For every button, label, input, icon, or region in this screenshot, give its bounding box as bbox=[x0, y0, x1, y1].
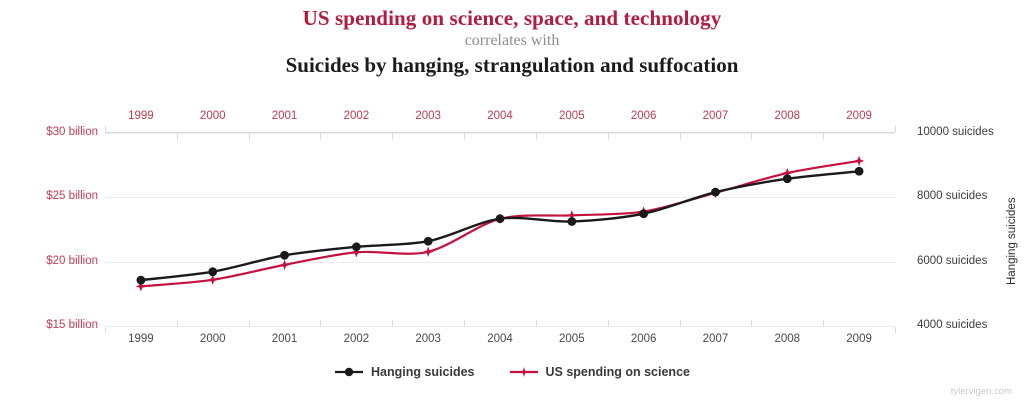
gridline-15b bbox=[105, 326, 895, 327]
y-label-left-25: $25 billion bbox=[30, 190, 98, 202]
x-tick-top bbox=[464, 133, 465, 140]
x-tick-bottom bbox=[464, 320, 465, 327]
x-tick-top bbox=[536, 133, 537, 140]
x-label-top-2008: 2008 bbox=[757, 110, 817, 122]
x-tick-top bbox=[680, 133, 681, 140]
x-label-bottom-2005: 2005 bbox=[542, 333, 602, 345]
x-tick-top bbox=[177, 133, 178, 140]
x-label-bottom-2006: 2006 bbox=[614, 333, 674, 345]
x-label-top-2002: 2002 bbox=[326, 110, 386, 122]
x-tick-bottom bbox=[608, 320, 609, 327]
x-label-bottom-2003: 2003 bbox=[398, 333, 458, 345]
x-tick-top bbox=[751, 133, 752, 140]
x-label-bottom-1999: 1999 bbox=[111, 333, 171, 345]
plus-marker-icon bbox=[509, 366, 539, 378]
x-label-bottom-2001: 2001 bbox=[255, 333, 315, 345]
frame-cap-bottom-right bbox=[895, 327, 896, 333]
line-hanging-suicides bbox=[141, 171, 859, 280]
chart-plot-area: 1999200020012002200320042005200620072008… bbox=[0, 0, 1024, 404]
x-label-top-2003: 2003 bbox=[398, 110, 458, 122]
plot-canvas bbox=[105, 133, 895, 326]
circle-marker-icon bbox=[334, 366, 364, 378]
frame-cap-top-right bbox=[895, 126, 896, 132]
x-tick-bottom bbox=[751, 320, 752, 327]
markers-us-spending-on-science bbox=[136, 156, 865, 292]
x-label-top-2001: 2001 bbox=[255, 110, 315, 122]
x-label-top-2009: 2009 bbox=[829, 110, 889, 122]
x-tick-bottom bbox=[392, 320, 393, 327]
x-label-bottom-2008: 2008 bbox=[757, 333, 817, 345]
series-layer bbox=[105, 133, 895, 326]
legend-label-hanging-suicides: Hanging suicides bbox=[371, 365, 475, 379]
x-tick-bottom bbox=[249, 320, 250, 327]
x-label-top-2007: 2007 bbox=[685, 110, 745, 122]
x-tick-top bbox=[249, 133, 250, 140]
x-label-bottom-2000: 2000 bbox=[183, 333, 243, 345]
frame-cap-top-left bbox=[105, 126, 106, 132]
x-tick-bottom bbox=[823, 320, 824, 327]
x-tick-bottom bbox=[680, 320, 681, 327]
x-label-bottom-2002: 2002 bbox=[326, 333, 386, 345]
legend-item-us-spending-on-science[interactable]: US spending on science bbox=[509, 365, 690, 379]
chart-legend: Hanging suicides US spending on science bbox=[0, 365, 1024, 379]
x-label-top-2006: 2006 bbox=[614, 110, 674, 122]
y-label-right-8000: 8000 suicides bbox=[917, 190, 1017, 202]
x-tick-top bbox=[608, 133, 609, 140]
y-axis-title-right: Hanging suicides bbox=[1006, 105, 1018, 285]
x-label-top-2000: 2000 bbox=[183, 110, 243, 122]
x-tick-bottom bbox=[177, 320, 178, 327]
y-label-left-20: $20 billion bbox=[30, 255, 98, 267]
y-label-left-15: $15 billion bbox=[30, 319, 98, 331]
y-label-right-10000: 10000 suicides bbox=[917, 126, 1017, 138]
watermark: tylervigen.com bbox=[951, 386, 1012, 397]
x-tick-top bbox=[392, 133, 393, 140]
x-tick-top bbox=[320, 133, 321, 140]
x-label-bottom-2007: 2007 bbox=[685, 333, 745, 345]
x-tick-bottom bbox=[536, 320, 537, 327]
x-tick-bottom bbox=[320, 320, 321, 327]
legend-item-hanging-suicides[interactable]: Hanging suicides bbox=[334, 365, 475, 379]
frame-cap-bottom-left bbox=[105, 327, 106, 333]
x-label-top-2004: 2004 bbox=[470, 110, 530, 122]
x-tick-top bbox=[823, 133, 824, 140]
y-label-left-30: $30 billion bbox=[30, 126, 98, 138]
x-label-bottom-2004: 2004 bbox=[470, 333, 530, 345]
x-label-bottom-2009: 2009 bbox=[829, 333, 889, 345]
y-label-right-6000: 6000 suicides bbox=[917, 255, 1017, 267]
y-label-right-4000: 4000 suicides bbox=[917, 319, 1017, 331]
legend-label-us-spending-on-science: US spending on science bbox=[546, 365, 690, 379]
x-label-top-2005: 2005 bbox=[542, 110, 602, 122]
x-label-top-1999: 1999 bbox=[111, 110, 171, 122]
